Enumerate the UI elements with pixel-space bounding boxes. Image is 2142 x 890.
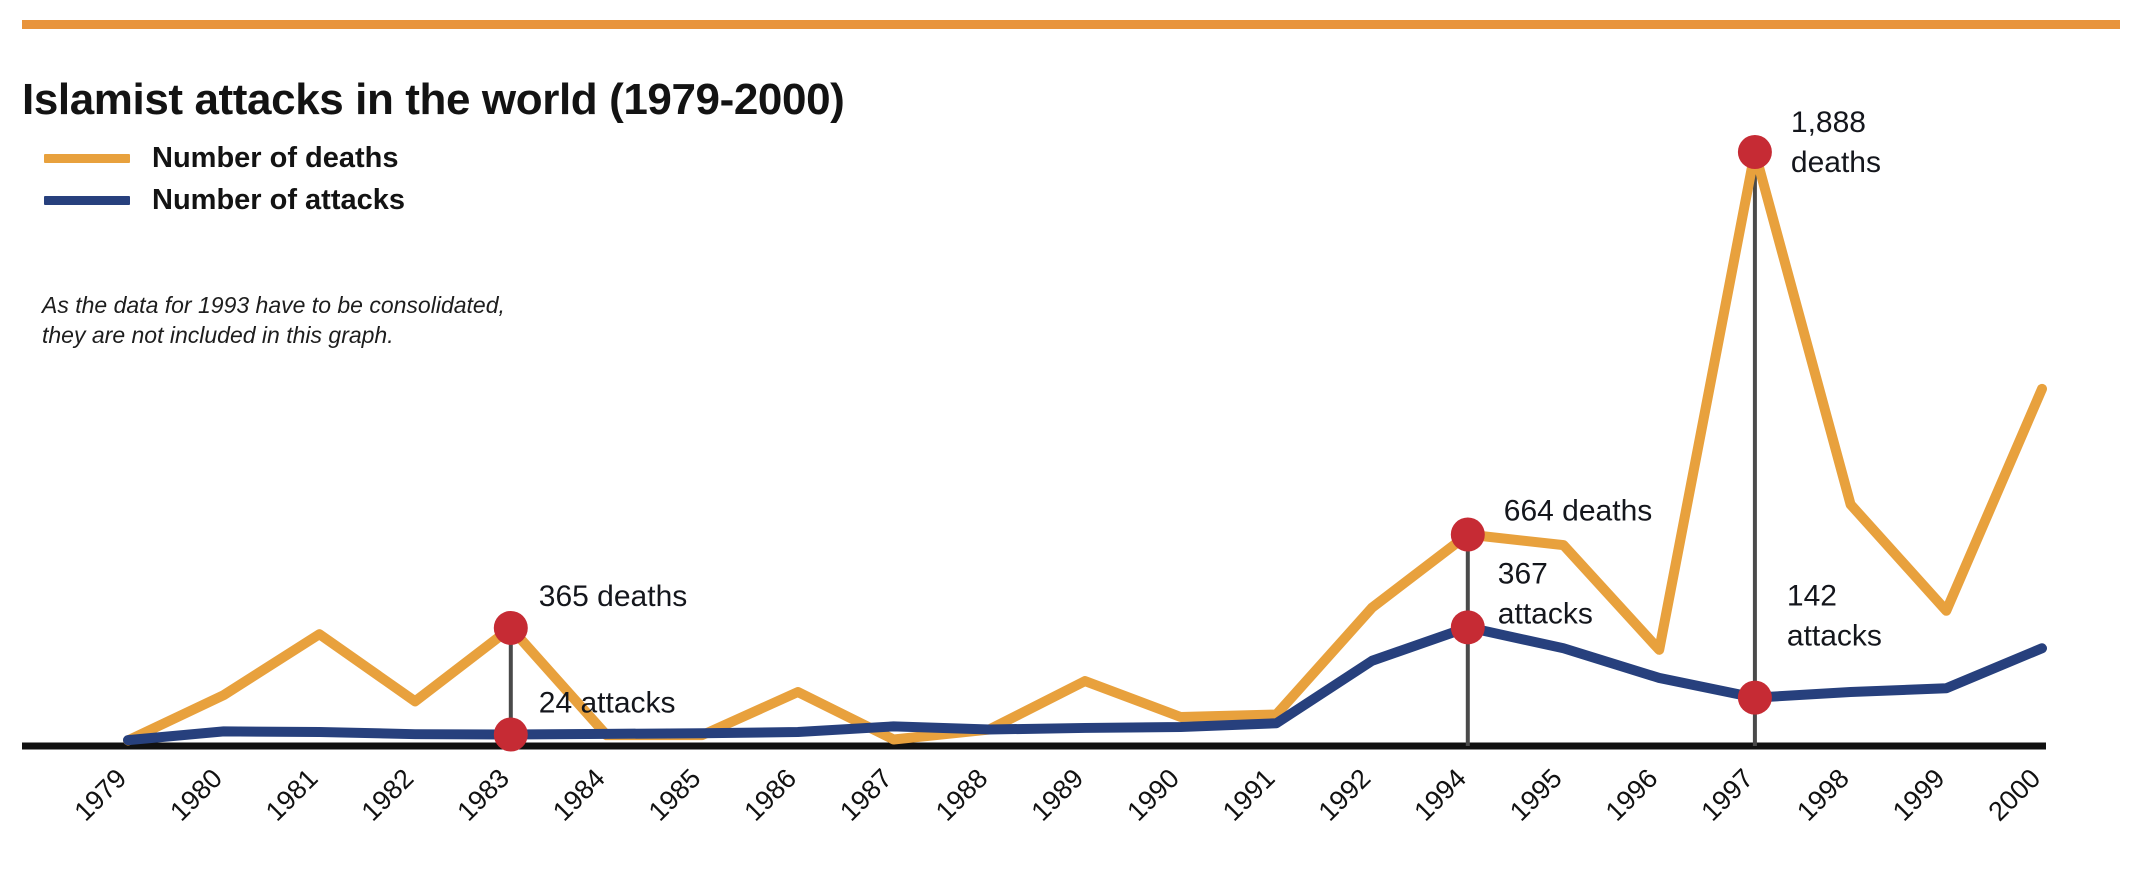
annotation-marker[interactable]	[494, 611, 528, 645]
x-tick-label-1989: 1989	[1026, 763, 1090, 827]
x-tick-label-1983: 1983	[451, 763, 515, 827]
x-tick-label-1995: 1995	[1504, 763, 1568, 827]
annotation-marker[interactable]	[1451, 518, 1485, 552]
x-tick-label-1985: 1985	[643, 763, 707, 827]
annotation-label: 365 deaths	[539, 580, 687, 613]
x-tick-label-1987: 1987	[834, 763, 898, 827]
x-tick-label-1988: 1988	[930, 763, 994, 827]
x-tick-label-1992: 1992	[1313, 763, 1377, 827]
x-tick-label-1980: 1980	[164, 763, 228, 827]
line-chart-plot: 365 deaths24 attacks664 deaths367attacks…	[0, 0, 2142, 890]
annotation-label: 1,888deaths	[1791, 106, 1881, 179]
annotation-marker[interactable]	[1451, 610, 1485, 644]
annotation-group: 365 deaths24 attacks664 deaths367attacks…	[494, 106, 1882, 752]
annotation-marker[interactable]	[1738, 135, 1772, 169]
x-tick-label-1997: 1997	[1695, 763, 1759, 827]
x-tick-label-2000: 2000	[1983, 763, 2047, 827]
x-tick-label-1979: 1979	[69, 763, 133, 827]
tick-label-group: 1979198019811982198319841985198619871988…	[69, 763, 2047, 827]
x-tick-label-1991: 1991	[1217, 763, 1281, 827]
chart-page: Islamist attacks in the world (1979-2000…	[0, 0, 2142, 890]
x-tick-label-1994: 1994	[1408, 763, 1472, 827]
x-tick-label-1984: 1984	[547, 763, 611, 827]
x-tick-label-1996: 1996	[1600, 763, 1664, 827]
x-tick-label-1990: 1990	[1121, 763, 1185, 827]
annotation-label: 142attacks	[1787, 580, 1882, 653]
x-tick-label-1998: 1998	[1791, 763, 1855, 827]
annotation-marker[interactable]	[1738, 681, 1772, 715]
annotation-marker[interactable]	[494, 718, 528, 752]
x-tick-label-1981: 1981	[260, 763, 324, 827]
annotation-label: 664 deaths	[1504, 495, 1652, 528]
x-tick-label-1999: 1999	[1887, 763, 1951, 827]
x-tick-label-1982: 1982	[356, 763, 420, 827]
x-tick-label-1986: 1986	[738, 763, 802, 827]
annotation-label: 24 attacks	[539, 687, 676, 720]
